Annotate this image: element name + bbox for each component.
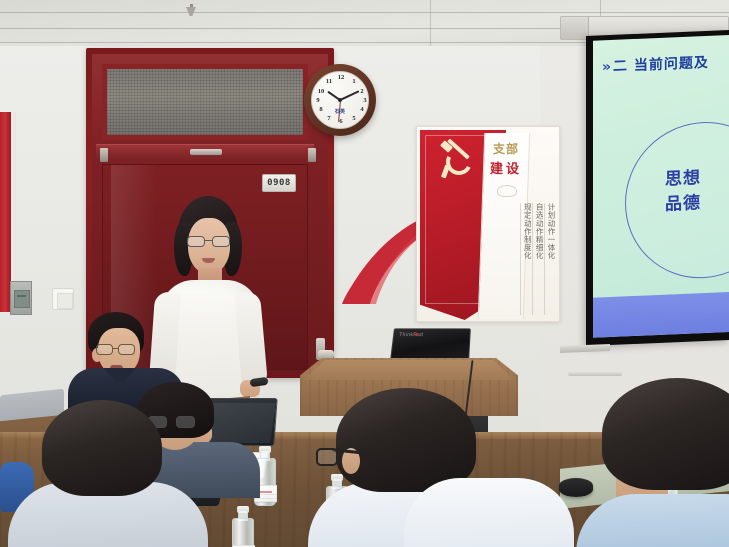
presentation-remote[interactable] (250, 377, 269, 387)
clock-numeral: 10 (316, 89, 326, 96)
slide-body-line2: 品德 (665, 191, 701, 217)
sprinkler-icon (185, 4, 197, 18)
attendee-white-shirt (404, 478, 574, 547)
clock-face: 12 1 2 3 4 5 6 7 8 9 10 11 石英 (311, 71, 369, 129)
hinge-icon (100, 148, 108, 162)
attendee-front-left (22, 400, 192, 547)
slide-surface: »二 当前问题及 思想 品德 (593, 35, 729, 338)
slide-bottom-band (593, 292, 729, 338)
attendee-far-right (594, 378, 729, 547)
poster-column: 规定动作制度化 (520, 203, 531, 315)
projection-screen: »二 当前问题及 思想 品德 (586, 30, 729, 346)
wall-clock: 12 1 2 3 4 5 6 7 8 9 10 11 石英 (304, 64, 376, 136)
clock-numeral: 3 (360, 98, 370, 105)
poster-title-gold: 支部 (489, 143, 523, 156)
slide-title-text: 二 当前问题及 (613, 55, 709, 75)
hinge-icon (308, 148, 316, 162)
poster-vertical-columns: 计划动作一体化 自选动作精细化 规定动作制度化 (481, 203, 557, 315)
wall-rail (568, 372, 622, 376)
slide-body-line1: 思想 (665, 166, 701, 192)
clock-numeral: 7 (324, 116, 334, 123)
clock-numeral: 4 (357, 107, 367, 114)
clock-numeral: 5 (349, 116, 359, 123)
slide-title: »二 当前问题及 (602, 52, 709, 76)
clock-numeral: 12 (336, 75, 346, 82)
transom-window (102, 64, 308, 140)
party-branch-poster: 支部 建设 计划动作一体化 自选动作精细化 规定动作制度化 (416, 126, 560, 322)
clock-minute-hand (340, 90, 360, 101)
hammer-and-sickle-icon (439, 141, 479, 181)
water-bottle[interactable] (232, 506, 254, 547)
laptop-brand-label: ThinkPad (399, 332, 424, 338)
clock-numeral: 9 (313, 98, 323, 105)
thermostat-panel[interactable] (10, 281, 32, 315)
slide-chevron-icon: » (602, 59, 612, 75)
slide-body-text: 思想 品德 (665, 166, 701, 217)
clock-numeral: 11 (324, 79, 334, 86)
poster-ornament-icon (497, 185, 517, 197)
clock-numeral: 8 (316, 107, 326, 114)
laptop-logo-dot-icon (415, 333, 418, 335)
room-number-plate: 0908 (262, 174, 296, 192)
light-switch[interactable] (52, 288, 74, 310)
poster-column: 自选动作精细化 (532, 203, 543, 315)
clock-numeral: 1 (349, 79, 359, 86)
glasses-icon (186, 236, 232, 247)
room-number-text: 0908 (267, 178, 291, 188)
meeting-room-scene: 0908 12 1 2 3 4 5 6 7 8 9 10 11 石英 (0, 0, 729, 547)
transom-handle[interactable] (190, 149, 222, 155)
thermostat-display (14, 290, 30, 308)
poster-column: 计划动作一体化 (544, 203, 555, 315)
clock-center-pin (338, 98, 342, 102)
poster-title-red: 建设 (487, 163, 525, 177)
